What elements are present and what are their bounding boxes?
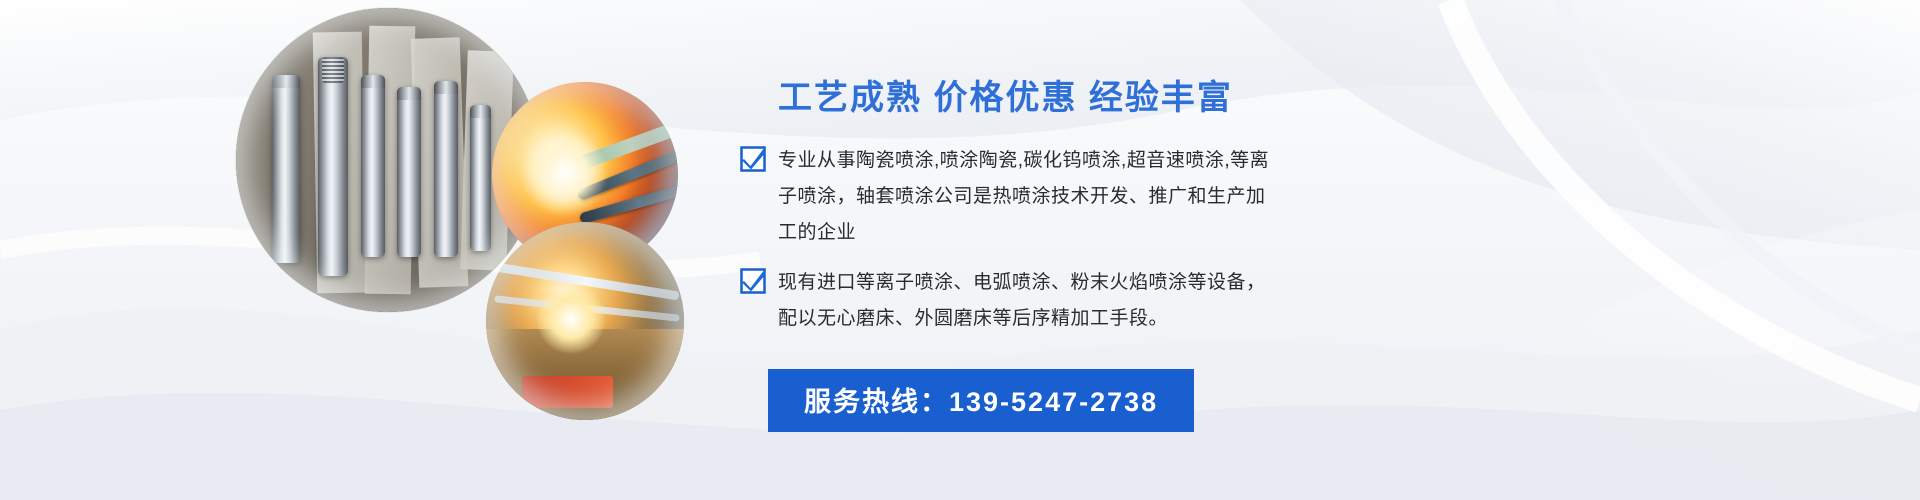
welding-grinding-photo <box>486 222 684 420</box>
photo-cluster <box>228 0 738 420</box>
promo-banner: 工艺成熟 价格优惠 经验丰富 专业从事陶瓷喷涂,喷涂陶瓷,碳化钨喷涂,超音速喷涂… <box>0 0 1920 500</box>
photo-edge-fade <box>486 222 684 420</box>
banner-headline: 工艺成熟 价格优惠 经验丰富 <box>778 70 1500 119</box>
check-box-icon <box>740 146 766 172</box>
feature-list: 专业从事陶瓷喷涂,喷涂陶瓷,碳化钨喷涂,超音速喷涂,等离子喷涂，轴套喷涂公司是热… <box>740 143 1500 337</box>
banner-content: 工艺成熟 价格优惠 经验丰富 专业从事陶瓷喷涂,喷涂陶瓷,碳化钨喷涂,超音速喷涂… <box>740 70 1500 432</box>
feature-item: 现有进口等离子喷涂、电弧喷涂、粉末火焰喷涂等设备，配以无心磨床、外圆磨床等后序精… <box>740 265 1500 337</box>
hotline-banner[interactable]: 服务热线：139-5247-2738 <box>768 369 1194 432</box>
feature-text: 现有进口等离子喷涂、电弧喷涂、粉末火焰喷涂等设备，配以无心磨床、外圆磨床等后序精… <box>778 265 1278 337</box>
check-box-icon <box>740 268 766 294</box>
feature-item: 专业从事陶瓷喷涂,喷涂陶瓷,碳化钨喷涂,超音速喷涂,等离子喷涂，轴套喷涂公司是热… <box>740 143 1500 251</box>
feature-text: 专业从事陶瓷喷涂,喷涂陶瓷,碳化钨喷涂,超音速喷涂,等离子喷涂，轴套喷涂公司是热… <box>778 143 1278 251</box>
